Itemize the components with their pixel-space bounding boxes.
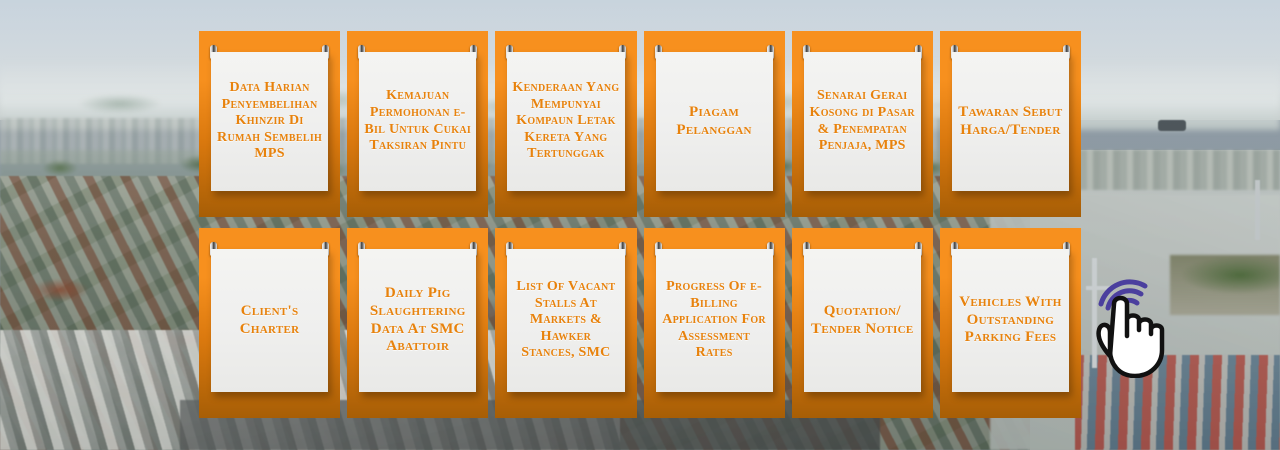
service-card-clients-charter[interactable]: Client's Charter — [199, 228, 340, 418]
card-title: Senarai Gerai Kosong di Pasar & Penempat… — [809, 88, 916, 154]
service-card-tawaran-sebut-harga-tender[interactable]: Tawaran Sebut Harga/Tender — [940, 31, 1081, 217]
card-title: Client's Charter — [216, 303, 323, 338]
card-paper: Progress Of e-Billing Application For As… — [656, 249, 773, 392]
service-card-piagam-pelanggan[interactable]: Piagam Pelanggan — [644, 31, 785, 217]
service-card-list-of-vacant-stalls[interactable]: List Of Vacant Stalls At Markets & Hawke… — [495, 228, 636, 418]
service-card-kenderaan-kompaun-letak-kereta[interactable]: Kenderaan Yang Mempunyai Kompaun Letak K… — [495, 31, 636, 217]
service-card-senarai-gerai-kosong[interactable]: Senarai Gerai Kosong di Pasar & Penempat… — [792, 31, 933, 217]
card-title: Data Harian Penyembelihan Khinzir Di Rum… — [216, 80, 323, 163]
card-title: Quotation/ Tender Notice — [809, 303, 916, 338]
service-card-grid: Data Harian Penyembelihan Khinzir Di Rum… — [199, 31, 1081, 418]
card-paper: List Of Vacant Stalls At Markets & Hawke… — [507, 249, 624, 392]
card-title: Kemajuan Permohonan e-Bil Untuk Cukai Ta… — [364, 88, 471, 154]
service-card-quotation-tender-notice[interactable]: Quotation/ Tender Notice — [792, 228, 933, 418]
card-title: Daily Pig Slaughtering Data At SMC Abatt… — [364, 285, 471, 356]
card-title: Vehicles With Outstanding Parking Fees — [957, 294, 1064, 347]
card-title: List Of Vacant Stalls At Markets & Hawke… — [512, 279, 619, 362]
card-title: Tawaran Sebut Harga/Tender — [957, 104, 1064, 139]
card-paper: Kenderaan Yang Mempunyai Kompaun Letak K… — [507, 52, 624, 191]
card-paper: Piagam Pelanggan — [656, 52, 773, 191]
card-paper: Daily Pig Slaughtering Data At SMC Abatt… — [359, 249, 476, 392]
card-title: Piagam Pelanggan — [661, 104, 768, 139]
card-paper: Data Harian Penyembelihan Khinzir Di Rum… — [211, 52, 328, 191]
card-paper: Kemajuan Permohonan e-Bil Untuk Cukai Ta… — [359, 52, 476, 191]
card-paper: Client's Charter — [211, 249, 328, 392]
card-paper: Quotation/ Tender Notice — [804, 249, 921, 392]
service-card-vehicles-with-outstanding-parking-fees[interactable]: Vehicles With Outstanding Parking Fees — [940, 228, 1081, 418]
card-paper: Vehicles With Outstanding Parking Fees — [952, 249, 1069, 392]
service-card-kemajuan-permohonan-ebil[interactable]: Kemajuan Permohonan e-Bil Untuk Cukai Ta… — [347, 31, 488, 217]
service-card-daily-pig-slaughtering-data[interactable]: Daily Pig Slaughtering Data At SMC Abatt… — [347, 228, 488, 418]
card-title: Progress Of e-Billing Application For As… — [661, 279, 768, 362]
card-paper: Tawaran Sebut Harga/Tender — [952, 52, 1069, 191]
service-card-progress-of-ebilling-application[interactable]: Progress Of e-Billing Application For As… — [644, 228, 785, 418]
service-card-data-harian-penyembelihan[interactable]: Data Harian Penyembelihan Khinzir Di Rum… — [199, 31, 340, 217]
card-title: Kenderaan Yang Mempunyai Kompaun Letak K… — [512, 80, 619, 163]
card-paper: Senarai Gerai Kosong di Pasar & Penempat… — [804, 52, 921, 191]
